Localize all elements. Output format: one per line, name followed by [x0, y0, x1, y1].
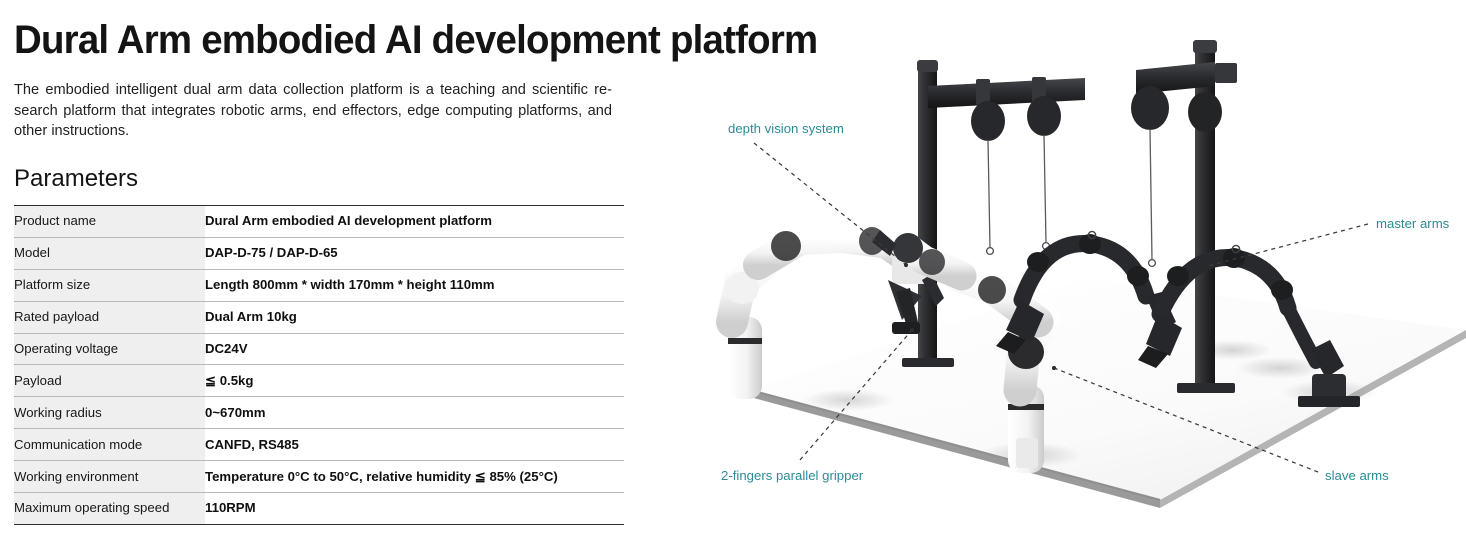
slave-left-gripper-tip	[892, 322, 920, 334]
parameter-key: Rated payload	[14, 301, 205, 333]
table-row: Payload≦ 0.5kg	[14, 365, 624, 397]
parameter-value: CANFD, RS485	[205, 429, 624, 461]
gantry-right-post-cap	[1193, 40, 1217, 53]
gantry-left-pulley-a	[971, 101, 1005, 141]
table-row: Maximum operating speed110RPM	[14, 493, 624, 525]
master-right-joint-a	[1167, 266, 1189, 286]
master-left-joint-c	[1127, 266, 1149, 286]
master-left-joint-b	[1079, 234, 1101, 254]
parameter-value: 110RPM	[205, 493, 624, 525]
table-row: Product nameDural Arm embodied AI develo…	[14, 206, 624, 238]
master-left-joint-a	[1027, 252, 1049, 272]
slave-left-joint-band-1	[728, 338, 762, 344]
parameter-key: Platform size	[14, 269, 205, 301]
gantry-left-foot	[902, 358, 954, 367]
parameter-value: ≦ 0.5kg	[205, 365, 624, 397]
parameter-key: Working radius	[14, 397, 205, 429]
parameter-value: DAP-D-75 / DAP-D-65	[205, 237, 624, 269]
gantry-right-pulley-b	[1188, 92, 1222, 132]
table-row: Working radius0~670mm	[14, 397, 624, 429]
slave-right-elbow-band	[978, 276, 1006, 304]
robot-scene-svg	[640, 0, 1466, 540]
master-right-joint-b	[1223, 248, 1245, 268]
gantry-right-foot	[1177, 383, 1235, 393]
table-row: Platform sizeLength 800mm * width 170mm …	[14, 269, 624, 301]
parameter-value: 0~670mm	[205, 397, 624, 429]
callout-label-slave-arms: slave arms	[1325, 468, 1389, 484]
gantry-left-beam	[928, 78, 1085, 108]
left-content-column: Dural Arm embodied AI development platfo…	[14, 0, 640, 540]
parameter-key: Model	[14, 237, 205, 269]
parameter-value: DC24V	[205, 333, 624, 365]
gantry-left-cable-b	[1044, 135, 1046, 243]
master-right-base-plate	[1298, 396, 1360, 407]
table-row: Communication modeCANFD, RS485	[14, 429, 624, 461]
parameters-heading: Parameters	[14, 164, 138, 194]
table-row: Operating voltageDC24V	[14, 333, 624, 365]
parameter-value: Temperature 0°C to 50°C, relative humidi…	[205, 461, 624, 493]
parameters-table: Product nameDural Arm embodied AI develo…	[14, 205, 624, 525]
leader-dot-depth-vision	[904, 263, 908, 267]
callout-label-master-arms: master arms	[1376, 216, 1449, 232]
gantry-left-cable-hook-a	[987, 248, 994, 255]
parameter-value: Dural Arm embodied AI development platfo…	[205, 206, 624, 238]
parameters-table-wrapper: Product nameDural Arm embodied AI develo…	[14, 205, 624, 525]
gantry-right-pulley-a	[1131, 86, 1169, 130]
gantry-right-beam-extension	[1215, 63, 1237, 83]
slave-right-wrist-band	[919, 249, 945, 275]
callout-label-gripper: 2-fingers parallel gripper	[721, 468, 863, 484]
intro-paragraph: The embodied intelligent dual arm data c…	[14, 80, 612, 142]
parameter-value: Length 800mm * width 170mm * height 110m…	[205, 269, 624, 301]
leader-dot-gripper	[910, 328, 914, 332]
table-row: Rated payloadDual Arm 10kg	[14, 301, 624, 333]
gantry-left-post-cap	[917, 60, 938, 72]
master-right-joint-c	[1271, 280, 1293, 300]
slave-right-base-connector	[1016, 438, 1038, 468]
parameter-key: Operating voltage	[14, 333, 205, 365]
parameter-key: Maximum operating speed	[14, 493, 205, 525]
gantry-right-cable-a	[1150, 129, 1152, 260]
gantry-left-post	[918, 67, 937, 362]
gantry-left-pulley-b	[1027, 96, 1061, 136]
parameter-value: Dual Arm 10kg	[205, 301, 624, 333]
gantry-left-cable-a	[988, 140, 990, 248]
leader-dot-slave-arms	[1052, 366, 1056, 370]
parameter-key: Working environment	[14, 461, 205, 493]
product-spec-page: Dural Arm embodied AI development platfo…	[0, 0, 1466, 540]
robot-platform-illustration: depth vision system master arms 2-finger…	[640, 0, 1466, 540]
parameter-key: Payload	[14, 365, 205, 397]
parameter-key: Product name	[14, 206, 205, 238]
gantry-right-cable-hook-a	[1149, 260, 1156, 267]
callout-label-depth-vision: depth vision system	[728, 121, 844, 137]
table-row: Working environmentTemperature 0°C to 50…	[14, 461, 624, 493]
slave-left-elbow-band	[771, 231, 801, 261]
parameter-key: Communication mode	[14, 429, 205, 461]
table-row: ModelDAP-D-75 / DAP-D-65	[14, 237, 624, 269]
